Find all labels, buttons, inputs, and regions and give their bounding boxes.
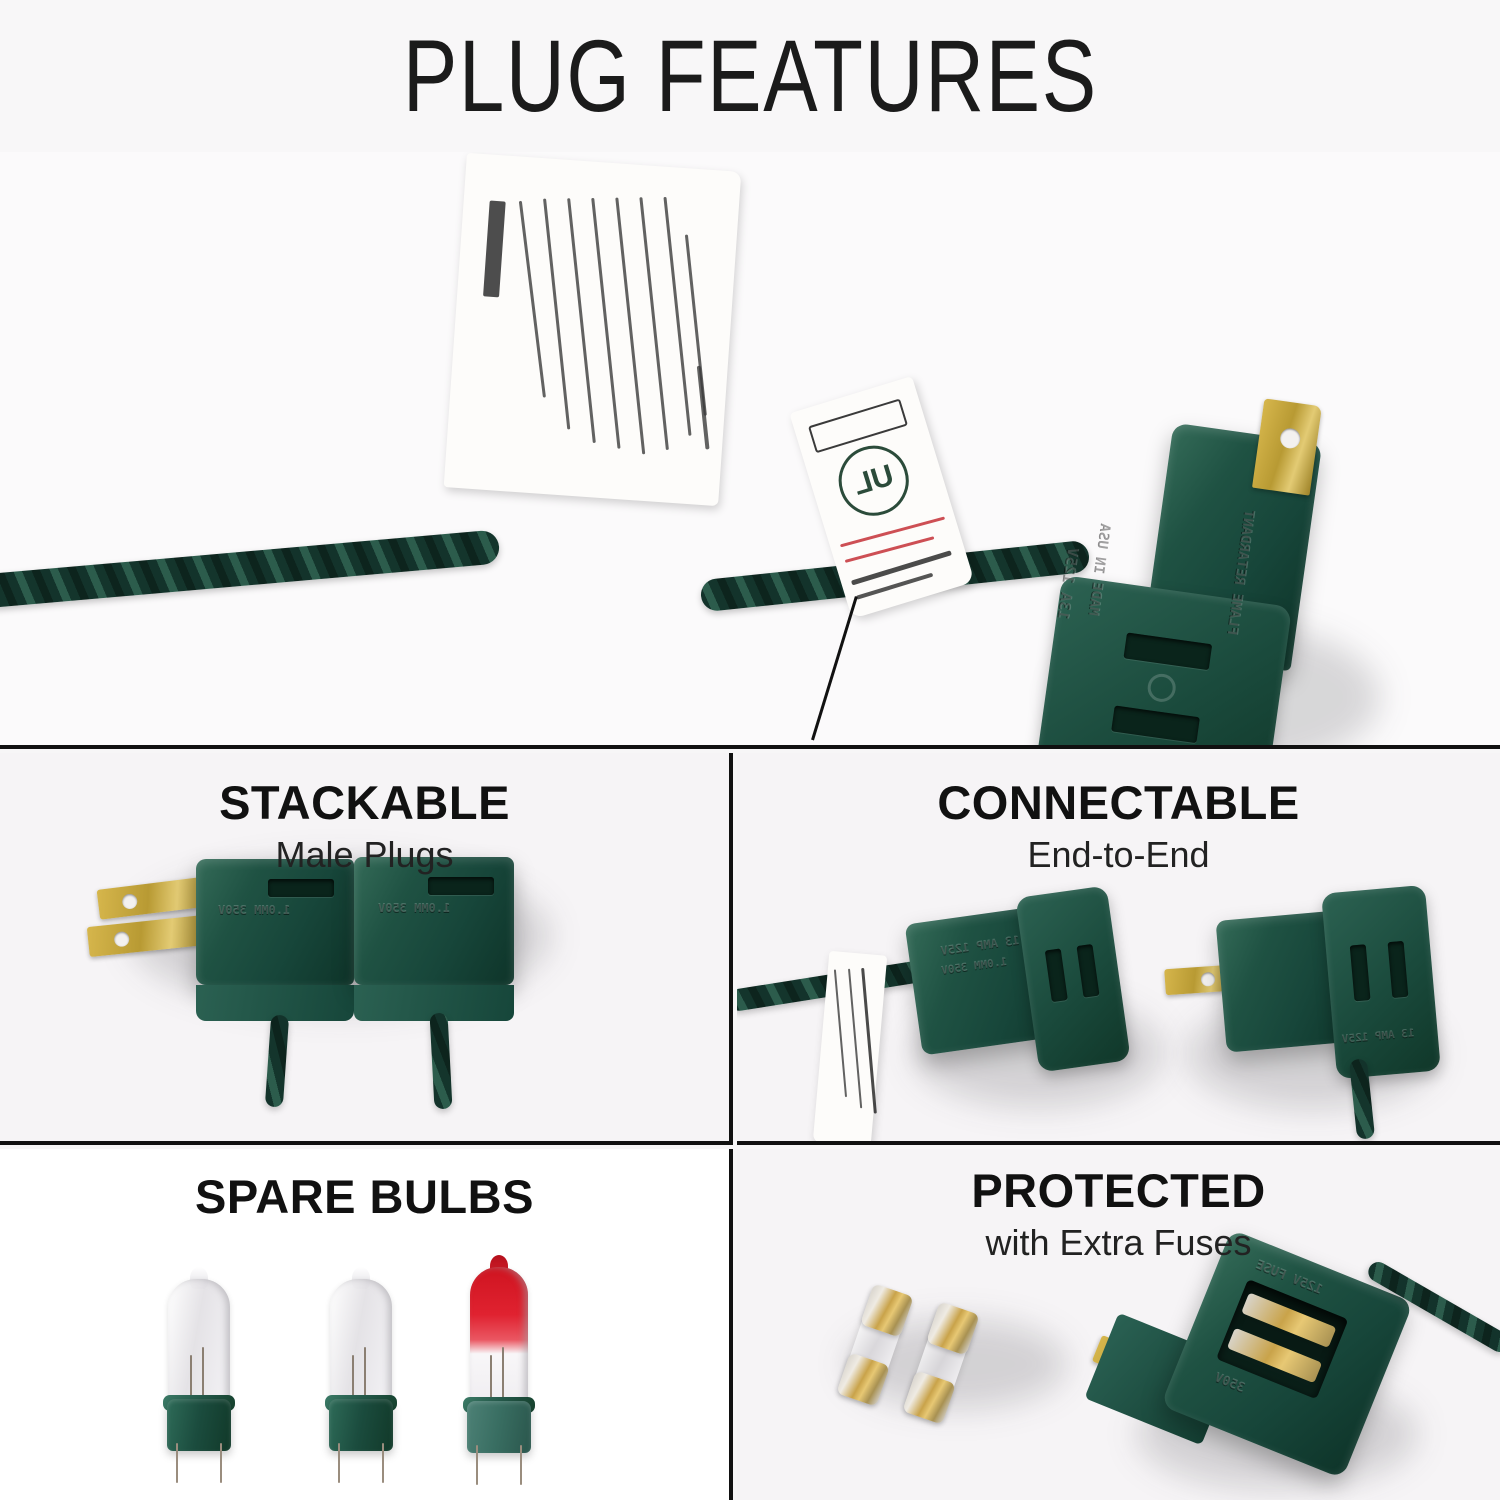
hero-plug-receptacle-face: 13A 125V MADE IN USA FLAME RETARDANT — [1032, 575, 1292, 749]
spare-bulb-clear-1 — [168, 1279, 230, 1489]
bulb-lead — [476, 1445, 478, 1485]
connectable-plug-left-emboss2: 1.0MM 350V — [940, 955, 1007, 977]
plug-emboss-origin: MADE IN USA — [1085, 523, 1114, 617]
connectable-heading: CONNECTABLE — [737, 779, 1500, 828]
connectable-left-slot-a — [1045, 948, 1068, 1002]
page-title: PLUG FEATURES — [403, 18, 1098, 135]
connectable-plug-right-face: 13 AMP 125V — [1321, 885, 1441, 1079]
plug-prong — [1252, 398, 1322, 495]
bulb-glass — [470, 1267, 528, 1407]
feature-panel-protected: PROTECTED with Extra Fuses 125 — [737, 1149, 1500, 1500]
stackable-heading: STACKABLE — [0, 779, 729, 828]
stackable-plug-2-emboss: 1.0MM 350V — [378, 901, 450, 915]
feature-panel-stackable: STACKABLE Male Plugs 1.0MM 350V 1.0MM 35… — [0, 753, 733, 1145]
power-cord-left — [0, 529, 500, 608]
protected-subheading: with Extra Fuses — [737, 1222, 1500, 1263]
spare-bulbs-caption: SPARE BULBS — [0, 1173, 729, 1228]
callout-leader-line — [811, 596, 858, 740]
protected-heading: PROTECTED — [737, 1167, 1500, 1216]
fuse-compartment-cavity — [1216, 1279, 1348, 1399]
stackable-plug-1-slot — [268, 879, 334, 897]
connectable-caption: CONNECTABLE End-to-End — [737, 779, 1500, 875]
feature-panel-spare-bulbs: SPARE BULBS — [0, 1149, 733, 1500]
feature-grid: STACKABLE Male Plugs 1.0MM 350V 1.0MM 35… — [0, 753, 1500, 1500]
connectable-right-slot-b — [1388, 941, 1409, 998]
connectable-right-slot-a — [1350, 944, 1371, 1001]
connectable-left-slot-b — [1076, 944, 1099, 998]
stackable-plug-1: 1.0MM 350V — [196, 859, 354, 985]
bulb-lead — [338, 1443, 340, 1483]
receptacle-slot-upper — [1123, 632, 1212, 670]
stackable-plug-2: 1.0MM 350V — [354, 857, 514, 985]
spare-bulb-clear-2 — [330, 1279, 392, 1489]
caution-tag — [444, 153, 742, 506]
stackable-cord-loop-2 — [430, 1013, 453, 1110]
receptacle-slot-lower — [1111, 705, 1200, 743]
stackable-plug-1-emboss: 1.0MM 350V — [218, 903, 290, 917]
protected-caption: PROTECTED with Extra Fuses — [737, 1167, 1500, 1263]
page-header: PLUG FEATURES — [0, 0, 1500, 152]
feature-panel-connectable: CONNECTABLE End-to-End 13 AMP 125V 1.0MM… — [737, 753, 1500, 1145]
spare-bulb-red — [470, 1267, 528, 1493]
bulb-glass — [330, 1279, 392, 1407]
bulb-lead — [382, 1443, 384, 1483]
stackable-plug-2-slot — [428, 877, 494, 895]
hero-photo-panel: UL 13A 125V MADE IN USA FLAME RETARDANT … — [0, 152, 1500, 749]
protected-emboss-voltage: 350V — [1212, 1370, 1247, 1396]
stackable-cord-loop-1 — [265, 1014, 289, 1107]
bulb-lead — [520, 1445, 522, 1485]
connectable-subheading: End-to-End — [737, 834, 1500, 875]
spare-bulbs-heading: SPARE BULBS — [0, 1173, 729, 1222]
bulb-glass — [168, 1279, 230, 1407]
bulb-lead — [220, 1443, 222, 1483]
connectable-plug-right-emboss: 13 AMP 125V — [1341, 1026, 1415, 1045]
connectable-plug-left-emboss: 13 AMP 125V — [940, 933, 1021, 958]
bulb-lead — [176, 1443, 178, 1483]
